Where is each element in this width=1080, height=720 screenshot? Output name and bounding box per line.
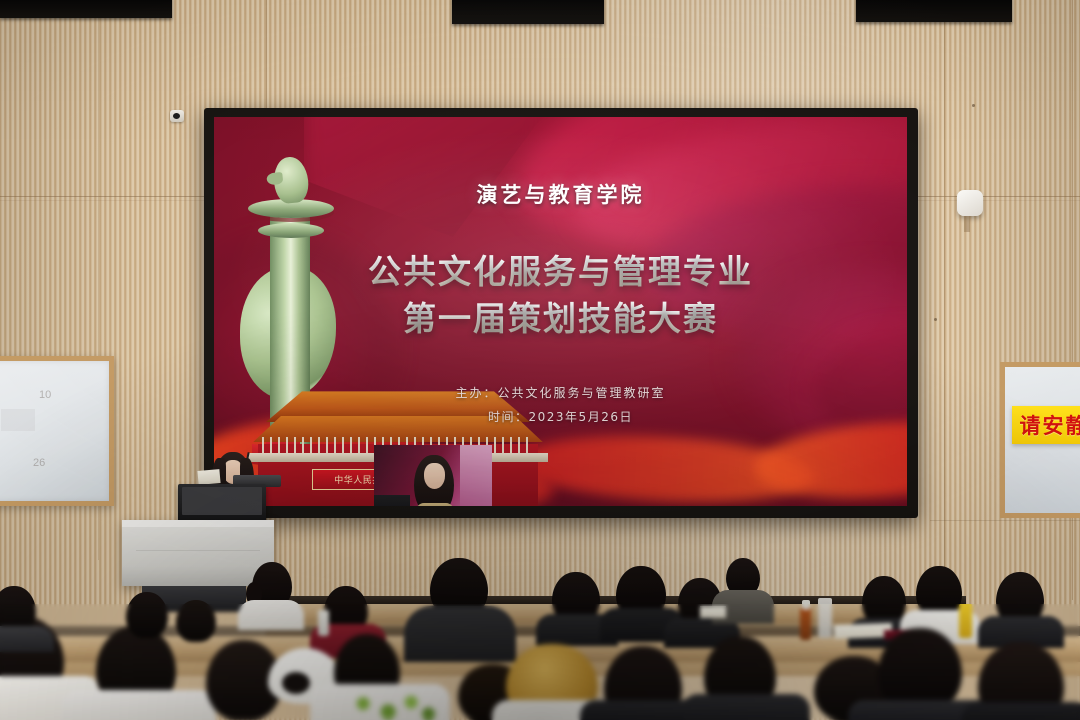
camera-icon — [170, 110, 184, 122]
presentation-slide: 中华人民共和国万岁 演艺与教育学院 公共文化服务与管理专业 第一届策划技能大赛 … — [214, 117, 907, 506]
ceiling-panel — [0, 0, 172, 18]
camo-print — [344, 690, 440, 720]
wall-seam — [930, 520, 1080, 521]
huabiao-disc — [258, 223, 324, 238]
lecture-hall-photo: 10 26 请安静 — [0, 0, 1080, 720]
slide-host-line: 主办：公共文化服务与管理教研室 — [214, 384, 907, 401]
status-badge: 请安静 — [1012, 406, 1080, 444]
paper-stack — [197, 469, 220, 485]
audience-body — [238, 600, 304, 630]
notice-sign-text: 请安静 — [1020, 410, 1080, 440]
whiteboard-scribble: 10 — [39, 389, 51, 401]
bottle-cap — [802, 600, 810, 610]
paper-stack — [700, 606, 726, 618]
audience-body — [404, 606, 516, 662]
presenter-monitor — [178, 484, 266, 524]
ceiling-panel — [856, 0, 1012, 22]
wall-seam — [944, 0, 945, 600]
cap-panel — [282, 672, 310, 694]
wall-fixture-dot — [972, 104, 975, 107]
led-display-bezel: 中华人民共和国万岁 演艺与教育学院 公共文化服务与管理专业 第一届策划技能大赛 … — [204, 108, 918, 518]
slide-date-line: 时间：2023年5月26日 — [214, 408, 907, 425]
presenter-video-inset — [374, 445, 492, 506]
whiteboard-scribble: 26 — [33, 457, 45, 469]
slide-title-line1: 公共文化服务与管理专业 — [214, 245, 907, 293]
water-bottle — [318, 610, 329, 636]
wall-fixture-dot — [934, 318, 937, 321]
lectern — [122, 520, 274, 586]
tumbler — [818, 598, 832, 638]
audience-head — [126, 592, 168, 638]
audience-head — [176, 600, 216, 642]
audience-body — [962, 702, 1080, 720]
water-bottle — [800, 608, 811, 640]
whiteboard-left: 10 26 — [0, 356, 114, 506]
slide-organization: 演艺与教育学院 — [214, 179, 907, 209]
tumbler — [959, 604, 972, 638]
wall-access-point — [957, 190, 983, 216]
audience-body — [62, 690, 216, 720]
audience-body — [682, 694, 810, 720]
audience-body — [0, 626, 54, 652]
slide-title-line2: 第一届策划技能大赛 — [214, 292, 907, 340]
ceiling-panel — [452, 0, 604, 24]
